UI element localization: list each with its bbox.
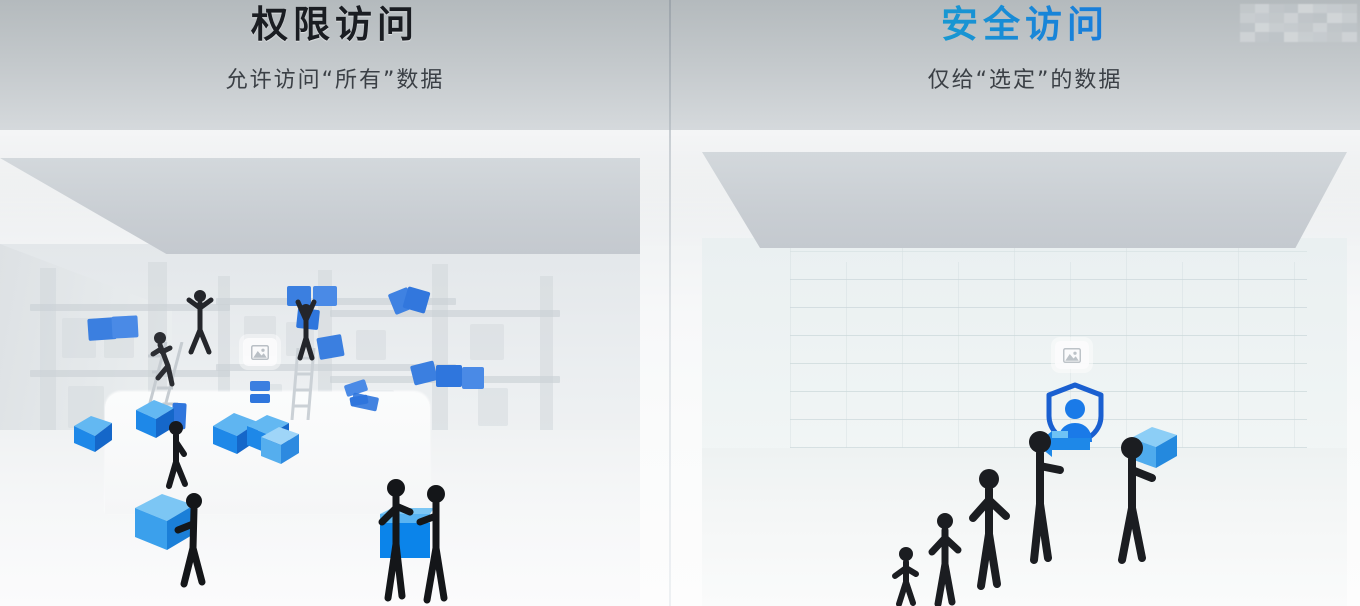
shelf-plank	[30, 370, 230, 377]
stick-figure-carrying	[172, 492, 214, 590]
image-placeholder-icon	[1055, 341, 1089, 369]
data-cube	[72, 412, 114, 454]
shelf-plank	[330, 310, 560, 317]
stick-figure-queue	[892, 546, 922, 606]
page-subtitle-right: 仅给“选定”的数据	[690, 62, 1360, 94]
data-tile	[436, 365, 462, 387]
right-ceiling	[702, 152, 1347, 248]
stick-figure-queue	[928, 512, 964, 606]
data-cube	[258, 424, 302, 468]
page-title-left: 权限访问	[0, 0, 670, 43]
left-panel-header: 权限访问 允许访问“所有”数据	[0, 0, 670, 94]
shelf-carton	[470, 324, 504, 360]
left-scene-warehouse	[0, 158, 640, 606]
data-tile	[250, 381, 270, 391]
left-ceiling	[0, 158, 640, 254]
stick-figure	[182, 288, 218, 360]
shelf-carton	[478, 388, 508, 426]
data-tile	[250, 394, 270, 403]
mosaic-blur-block	[1240, 4, 1356, 41]
slide-stage: 权限访问 允许访问“所有”数据 安全访问 仅给“选定”的数据	[0, 0, 1360, 606]
stick-figure	[376, 478, 418, 604]
stick-figure-at-checkpoint	[1020, 430, 1068, 564]
stick-figure	[414, 484, 456, 606]
data-tile	[111, 315, 138, 338]
stick-figure-queue	[968, 468, 1012, 590]
data-tile	[462, 367, 484, 389]
stick-figure-reaching	[288, 296, 324, 360]
stick-figure-climbing	[148, 330, 182, 392]
image-placeholder-icon	[243, 338, 277, 366]
shelf-carton	[356, 330, 386, 360]
stick-figure-carrying	[1112, 436, 1160, 564]
stick-figure	[160, 420, 194, 492]
page-subtitle-left: 允许访问“所有”数据	[0, 62, 670, 94]
